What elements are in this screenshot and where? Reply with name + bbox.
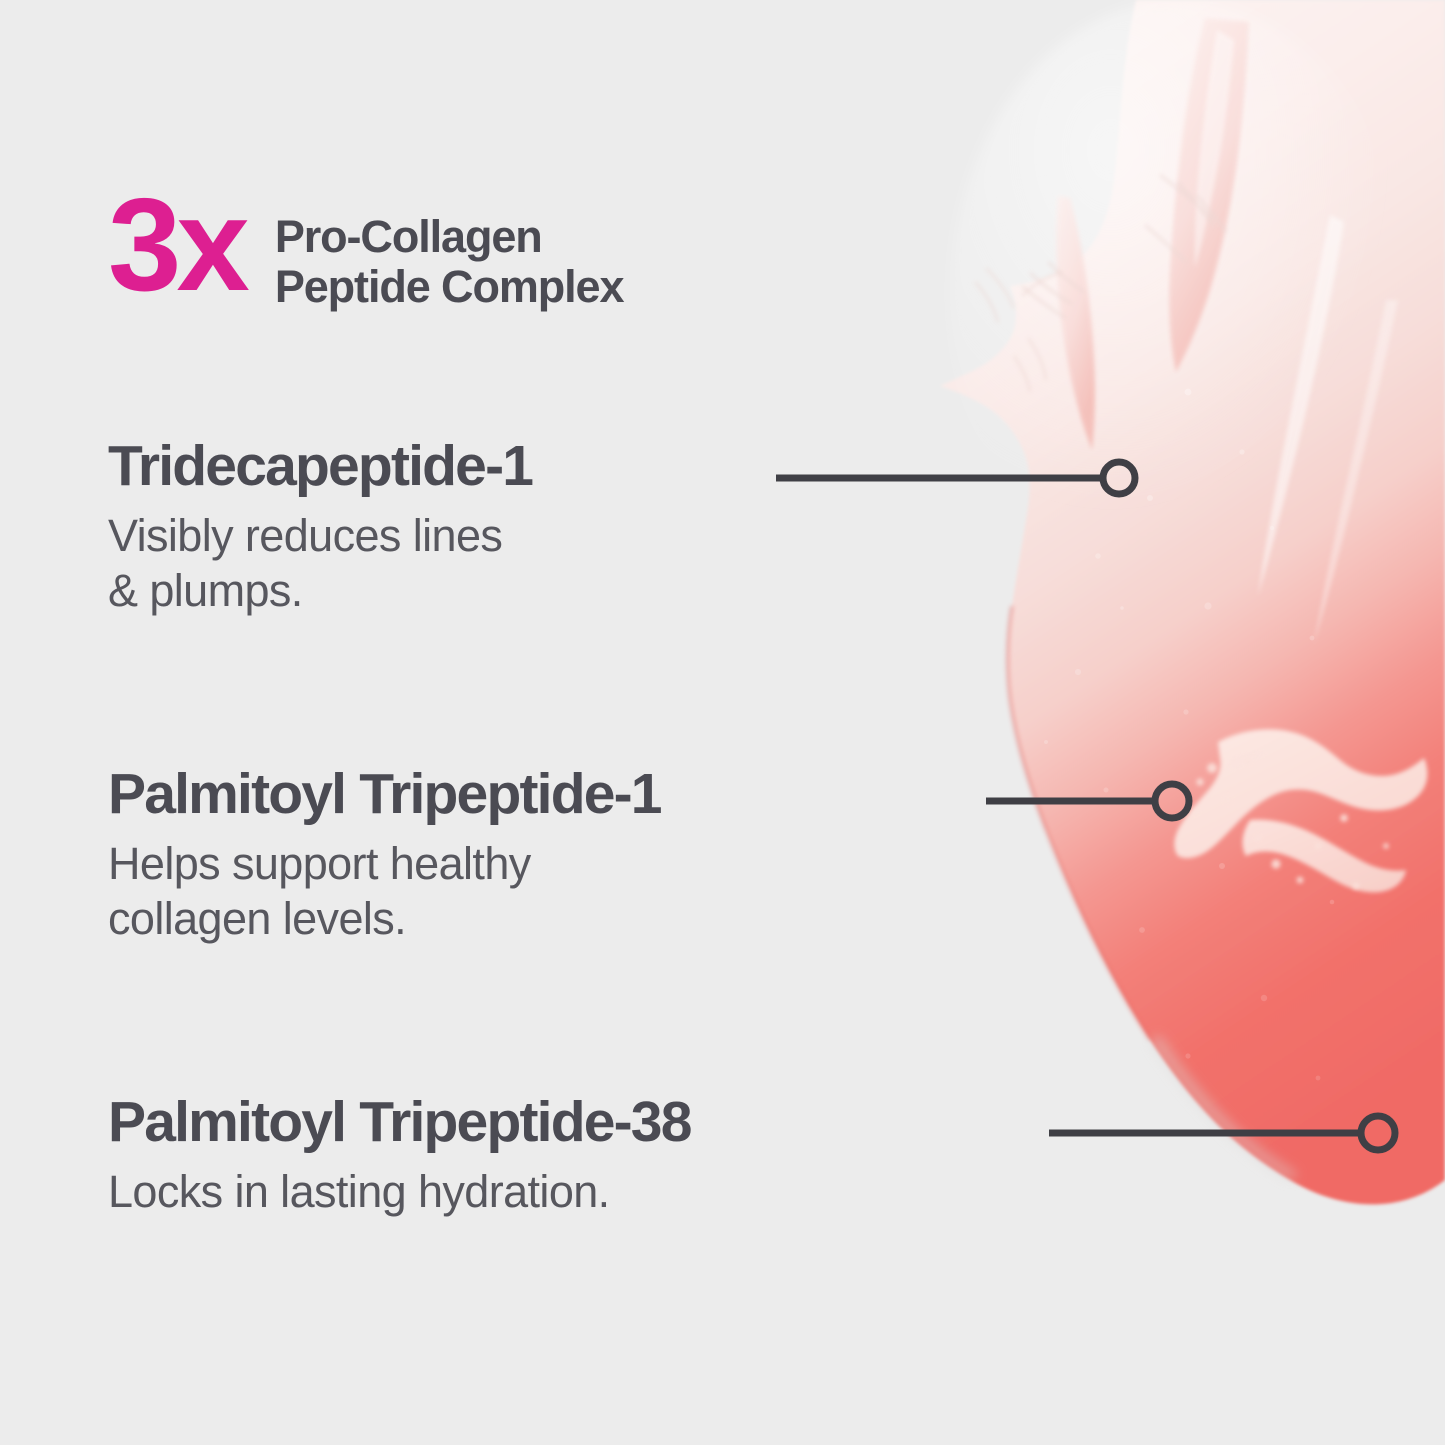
leader-marker-2-ring [1155, 784, 1189, 818]
promo-graphic: 3x Pro-Collagen Peptide Complex Tridecap… [0, 0, 1445, 1445]
leader-line-3 [1049, 1116, 1395, 1150]
leader-line-1 [776, 462, 1135, 494]
leader-line-2 [986, 784, 1189, 818]
leader-lines-layer [0, 0, 1445, 1445]
leader-marker-1-ring [1103, 462, 1135, 494]
leader-marker-3-ring [1361, 1116, 1395, 1150]
